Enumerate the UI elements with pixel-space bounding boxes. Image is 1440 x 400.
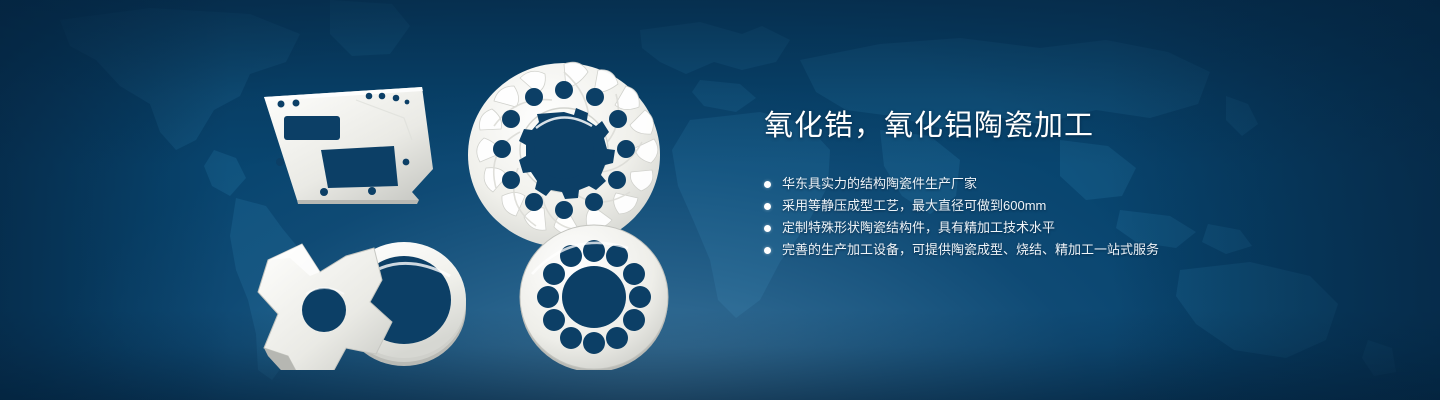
bullet-dot-icon bbox=[764, 225, 771, 232]
ceramic-processing-banner: 氧化锆，氧化铝陶瓷加工 华东具实力的结构陶瓷件生产厂家 采用等静压成型工艺，最大… bbox=[0, 0, 1440, 400]
banner-left-shade bbox=[0, 0, 230, 400]
ceramic-products-image bbox=[236, 40, 706, 370]
list-item: 定制特殊形状陶瓷结构件，具有精加工技术水平 bbox=[764, 217, 1364, 239]
feature-text: 华东具实力的结构陶瓷件生产厂家 bbox=[782, 173, 977, 195]
ceramic-cross-part bbox=[258, 244, 392, 370]
bullet-dot-icon bbox=[764, 181, 771, 188]
feature-text: 定制特殊形状陶瓷结构件，具有精加工技术水平 bbox=[782, 217, 1055, 239]
ceramic-impeller-part bbox=[468, 62, 660, 247]
list-item: 采用等静压成型工艺，最大直径可做到600mm bbox=[764, 195, 1364, 217]
bullet-dot-icon bbox=[764, 203, 771, 210]
banner-copy-block: 氧化锆，氧化铝陶瓷加工 华东具实力的结构陶瓷件生产厂家 采用等静压成型工艺，最大… bbox=[764, 106, 1364, 261]
feature-list: 华东具实力的结构陶瓷件生产厂家 采用等静压成型工艺，最大直径可做到600mm 定… bbox=[764, 173, 1364, 261]
page-title: 氧化锆，氧化铝陶瓷加工 bbox=[764, 106, 1364, 146]
feature-text: 完善的生产加工设备，可提供陶瓷成型、烧结、精加工一站式服务 bbox=[782, 239, 1159, 261]
list-item: 华东具实力的结构陶瓷件生产厂家 bbox=[764, 173, 1364, 195]
feature-text: 采用等静压成型工艺，最大直径可做到600mm bbox=[782, 195, 1046, 217]
ceramic-perforated-disc-part bbox=[520, 225, 668, 370]
bullet-dot-icon bbox=[764, 247, 771, 254]
list-item: 完善的生产加工设备，可提供陶瓷成型、烧结、精加工一站式服务 bbox=[764, 239, 1364, 261]
ceramic-plate-part bbox=[264, 87, 433, 204]
